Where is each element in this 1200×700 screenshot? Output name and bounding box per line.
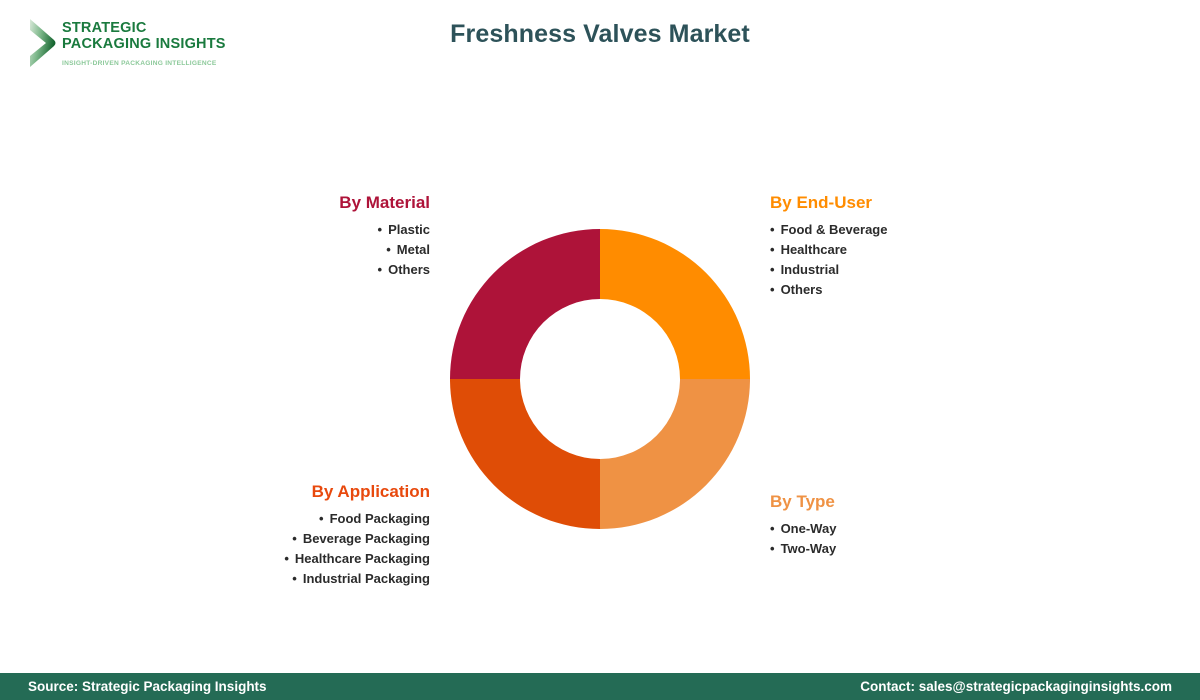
segment-heading-application: By Application [284, 482, 430, 502]
list-item: Industrial Packaging [284, 569, 430, 589]
footer-bar: Source: Strategic Packaging Insights Con… [0, 673, 1200, 700]
list-item: Healthcare Packaging [284, 549, 430, 569]
donut-chart [450, 229, 750, 529]
segment-heading-material: By Material [339, 193, 430, 213]
list-item: Industrial [770, 260, 887, 280]
page-title: Freshness Valves Market [0, 20, 1200, 49]
list-item: Plastic [339, 220, 430, 240]
segment-group-type: By Type One-Way Two-Way [770, 492, 836, 559]
list-item: Metal [339, 240, 430, 260]
footer-contact: Contact: sales@strategicpackaginginsight… [860, 679, 1172, 694]
segment-list-application: Food Packaging Beverage Packaging Health… [284, 509, 430, 589]
list-item: Food Packaging [284, 509, 430, 529]
segment-list-enduser: Food & Beverage Healthcare Industrial Ot… [770, 220, 887, 300]
list-item: Others [770, 280, 887, 300]
donut-slice-enduser[interactable] [600, 229, 750, 379]
list-item: Healthcare [770, 240, 887, 260]
list-item: One-Way [770, 519, 836, 539]
list-item: Two-Way [770, 539, 836, 559]
list-item: Others [339, 260, 430, 280]
footer-source: Source: Strategic Packaging Insights [28, 679, 267, 694]
segment-list-type: One-Way Two-Way [770, 519, 836, 559]
donut-slice-application[interactable] [450, 379, 600, 529]
segment-group-material: By Material Plastic Metal Others [339, 193, 430, 280]
segment-list-material: Plastic Metal Others [339, 220, 430, 280]
segment-group-application: By Application Food Packaging Beverage P… [284, 482, 430, 589]
segment-heading-type: By Type [770, 492, 836, 512]
donut-slice-material[interactable] [450, 229, 600, 379]
list-item: Food & Beverage [770, 220, 887, 240]
segment-heading-enduser: By End-User [770, 193, 887, 213]
list-item: Beverage Packaging [284, 529, 430, 549]
logo-tagline: INSIGHT-DRIVEN PACKAGING INTELLIGENCE [62, 60, 226, 67]
donut-slice-type[interactable] [600, 379, 750, 529]
segment-group-enduser: By End-User Food & Beverage Healthcare I… [770, 193, 887, 300]
